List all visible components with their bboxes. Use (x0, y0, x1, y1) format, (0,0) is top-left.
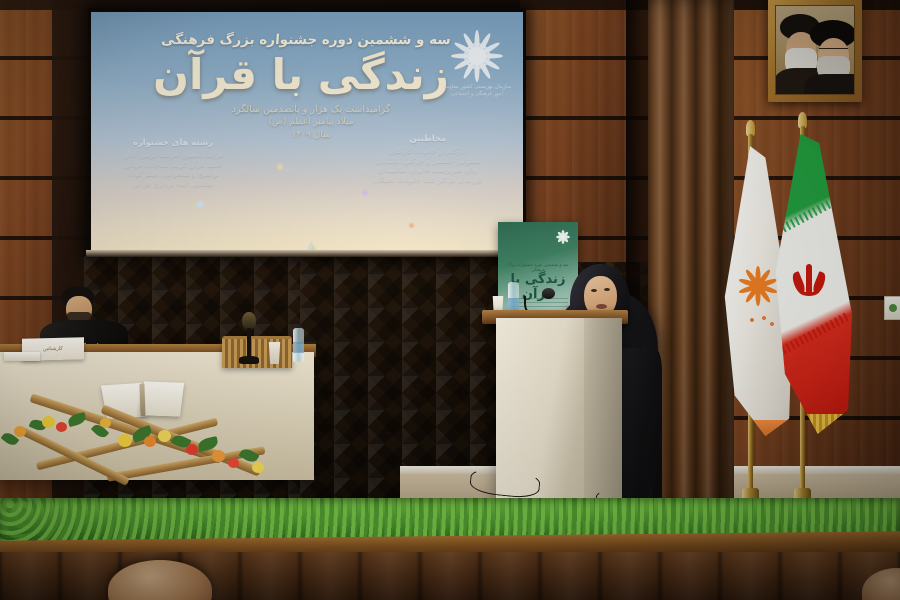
table-mic-base (239, 356, 259, 364)
rehal-with-open-quran (0, 378, 300, 508)
screen-audience-item: کارکنان و خانواده کارکنان (389, 146, 467, 155)
garland-flower (118, 434, 132, 447)
behzisti-logo-caption: سازمان بهزیستی کشور معاونت امور فرهنگی و… (439, 84, 515, 97)
screen-category-item: قرائت تحقیق، قرائت ترتیل، اذان (123, 150, 223, 159)
notebook-on-table (4, 352, 40, 361)
screen-subtitle-1: گرامیداشت یک هزار و پانصدمین سالگرد (161, 104, 461, 115)
speaker-eye-right (604, 288, 610, 291)
garland-flower (144, 436, 156, 447)
screen-audience-item: زنان سرپرست خانوار، سالمندان (378, 165, 477, 174)
garland-flower (56, 422, 67, 432)
speaker-mouth (596, 304, 607, 309)
table-mic-stem (247, 328, 251, 358)
leaders-portrait-frame (768, 0, 862, 102)
garland-flower (158, 430, 171, 442)
table-microphone (238, 312, 264, 364)
bottle-label (508, 298, 519, 310)
water-bottle-table (293, 328, 304, 362)
screen-categories-heading: رشته های جشنواره (103, 138, 243, 148)
iran-flag-cloth (774, 134, 852, 434)
screen-headline: سه و ششمین دوره جشنواره بزرگ فرهنگی (150, 32, 461, 48)
podium-side-shading (584, 318, 622, 504)
iran-national-flag (772, 112, 892, 512)
khamenei-robe (804, 74, 855, 95)
behzisti-sunburst-icon (451, 30, 503, 82)
wall-sign-dot-icon (889, 304, 897, 312)
garland-flower (14, 426, 26, 437)
flower-garland (0, 378, 300, 508)
iran-flag-emblem-icon (792, 262, 828, 296)
screen-audience-item: فرزندان مراکز شبه خانواده، نخبگان (373, 175, 482, 184)
screen-subtitle-2: میلاد پیامبر اعظم (ص) (181, 117, 441, 127)
garland-flower (252, 462, 264, 473)
name-card-text: کارشناس (43, 346, 63, 353)
projection-screen: سه و ششمین دوره جشنواره بزرگ فرهنگی زندگ… (91, 12, 523, 250)
projection-screen-frame: سه و ششمین دوره جشنواره بزرگ فرهنگی زندگ… (88, 8, 526, 256)
iran-flag-kufic-band-top (776, 190, 849, 235)
conference-hall-photo: سه و ششمین دوره جشنواره بزرگ فرهنگی زندگ… (0, 0, 900, 600)
screen-audience-column: مخاطبین کارکنان و خانواده کارکنان معلولی… (353, 134, 503, 184)
screen-audience-item: معلولین جسمی و حرکتی، نابینایان (376, 156, 480, 165)
bottle-label (293, 342, 304, 353)
banner-logo-icon (556, 230, 570, 244)
leaders-portrait-image (775, 5, 855, 95)
iran-flag-gold-fringe (774, 414, 852, 434)
projection-screen-bottom-bar (86, 250, 528, 257)
garland-flower (42, 416, 55, 428)
screen-category-item: حفظ قرآن کریم، مناجات خوانی (124, 160, 222, 169)
screen-category-item: تواشیح و همخوانی، فیلم کوتاه (127, 169, 219, 178)
speaker-eye-left (591, 289, 597, 292)
iran-flag-kufic-band-bottom (776, 312, 849, 357)
screen-categories-column: رشته های جشنواره قرائت تحقیق، قرائت ترتی… (103, 138, 243, 188)
khamenei-glasses (819, 48, 848, 54)
screen-audience-heading: مخاطبین (353, 134, 503, 144)
garland-flower (228, 458, 239, 468)
garland-flower (212, 450, 225, 462)
wall-mounted-sign (884, 296, 900, 320)
garland-flower (186, 444, 198, 455)
garland-flower (100, 418, 111, 428)
paper-cup-table (268, 342, 281, 364)
screen-title: زندگی با قرآن (131, 50, 471, 99)
screen-category-item: نقاشی، ایده پردازی قرآنی (133, 179, 213, 188)
